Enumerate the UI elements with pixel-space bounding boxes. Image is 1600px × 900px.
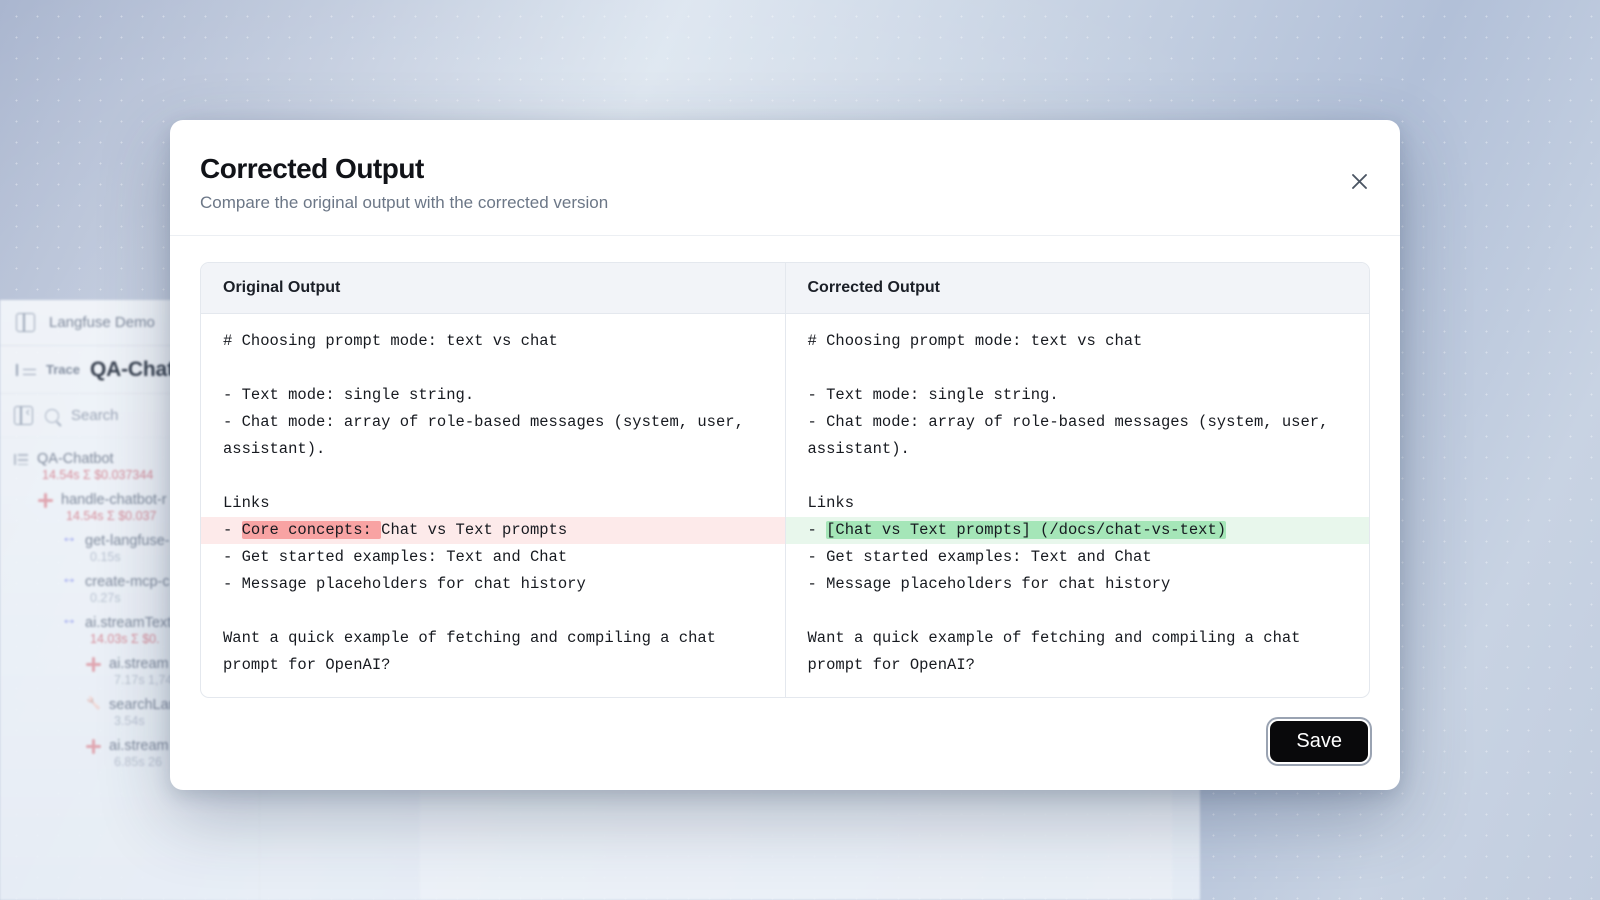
- dialog-header: Corrected Output Compare the original ou…: [170, 120, 1400, 236]
- diff-token-highlight: Core concepts:: [242, 521, 382, 539]
- diff-line-added: - [Chat vs Text prompts] (/docs/chat-vs-…: [786, 517, 1370, 544]
- project-label: Langfuse Demo: [49, 314, 155, 331]
- wrench-icon: [86, 698, 101, 713]
- code-line: - Message placeholders for chat history: [201, 571, 785, 598]
- diff-table: Original Output Corrected Output # Choos…: [200, 262, 1370, 698]
- span-icon: [86, 739, 101, 754]
- tree-item-label: searchLan: [109, 697, 177, 713]
- dialog-footer: Save: [170, 701, 1400, 790]
- diff-line-removed: - Core concepts: Chat vs Text prompts: [201, 517, 785, 544]
- diff-table-body: # Choosing prompt mode: text vs chat - T…: [201, 314, 1369, 697]
- diff-line-prefix: -: [223, 521, 242, 539]
- search-input[interactable]: Search: [71, 407, 119, 424]
- code-line: - Chat mode: array of role-based message…: [201, 409, 785, 463]
- tree-item-label: ai.streamText: [85, 615, 171, 631]
- code-line: - Get started examples: Text and Chat: [201, 544, 785, 571]
- original-output-code: # Choosing prompt mode: text vs chat - T…: [201, 314, 785, 697]
- save-button[interactable]: Save: [1270, 721, 1368, 762]
- corrected-output-dialog: Corrected Output Compare the original ou…: [170, 120, 1400, 790]
- code-line: # Choosing prompt mode: text vs chat: [786, 328, 1370, 355]
- code-line: - Text mode: single string.: [201, 382, 785, 409]
- dialog-title: Corrected Output: [200, 152, 1366, 186]
- tree-item-label: handle-chatbot-r: [61, 492, 167, 508]
- code-line-blank: [786, 463, 1370, 490]
- diff-token-highlight: [Chat vs Text prompts] (/docs/chat-vs-te…: [826, 521, 1226, 539]
- tree-item-label: get-langfuse-: [85, 533, 170, 549]
- diff-table-header-row: Original Output Corrected Output: [201, 263, 1369, 314]
- code-line: Links: [786, 490, 1370, 517]
- dialog-subtitle: Compare the original output with the cor…: [200, 193, 1366, 213]
- code-line-blank: [201, 355, 785, 382]
- diff-line-prefix: -: [808, 521, 827, 539]
- panel-collapse-icon[interactable]: [14, 406, 33, 425]
- search-icon: [45, 409, 59, 423]
- tool-icon: [62, 616, 77, 631]
- tree-item-label: create-mcp-c: [85, 574, 170, 590]
- corrected-output-code: # Choosing prompt mode: text vs chat - T…: [786, 314, 1370, 697]
- trace-icon: [16, 363, 36, 377]
- tree-item-label: ai.stream: [109, 656, 169, 672]
- span-icon: [38, 493, 53, 508]
- code-line: - Text mode: single string.: [786, 382, 1370, 409]
- code-line: # Choosing prompt mode: text vs chat: [201, 328, 785, 355]
- close-button[interactable]: [1344, 166, 1374, 196]
- tree-icon: [14, 452, 29, 467]
- code-line-blank: [786, 355, 1370, 382]
- tree-item-label: ai.stream: [109, 738, 169, 754]
- close-icon: [1351, 173, 1368, 190]
- code-line-blank: [786, 598, 1370, 625]
- code-line-blank: [201, 463, 785, 490]
- code-line: - Message placeholders for chat history: [786, 571, 1370, 598]
- span-icon: [86, 657, 101, 672]
- code-line: - Chat mode: array of role-based message…: [786, 409, 1370, 463]
- dialog-body: Original Output Corrected Output # Choos…: [170, 236, 1400, 701]
- code-line: - Get started examples: Text and Chat: [786, 544, 1370, 571]
- code-line: Want a quick example of fetching and com…: [201, 625, 785, 679]
- column-header-original: Original Output: [201, 263, 785, 313]
- original-output-column: # Choosing prompt mode: text vs chat - T…: [201, 314, 785, 697]
- breadcrumb-kind: Trace: [46, 362, 80, 377]
- corrected-output-column: # Choosing prompt mode: text vs chat - T…: [785, 314, 1370, 697]
- column-header-corrected: Corrected Output: [785, 263, 1370, 313]
- panel-left-icon[interactable]: [16, 313, 35, 332]
- tree-item-label: QA-Chatbot: [37, 451, 114, 467]
- diff-line-suffix: Chat vs Text prompts: [381, 521, 567, 539]
- tool-icon: [62, 575, 77, 590]
- code-line-blank: [201, 598, 785, 625]
- code-line: Links: [201, 490, 785, 517]
- tool-icon: [62, 534, 77, 549]
- code-line: Want a quick example of fetching and com…: [786, 625, 1370, 679]
